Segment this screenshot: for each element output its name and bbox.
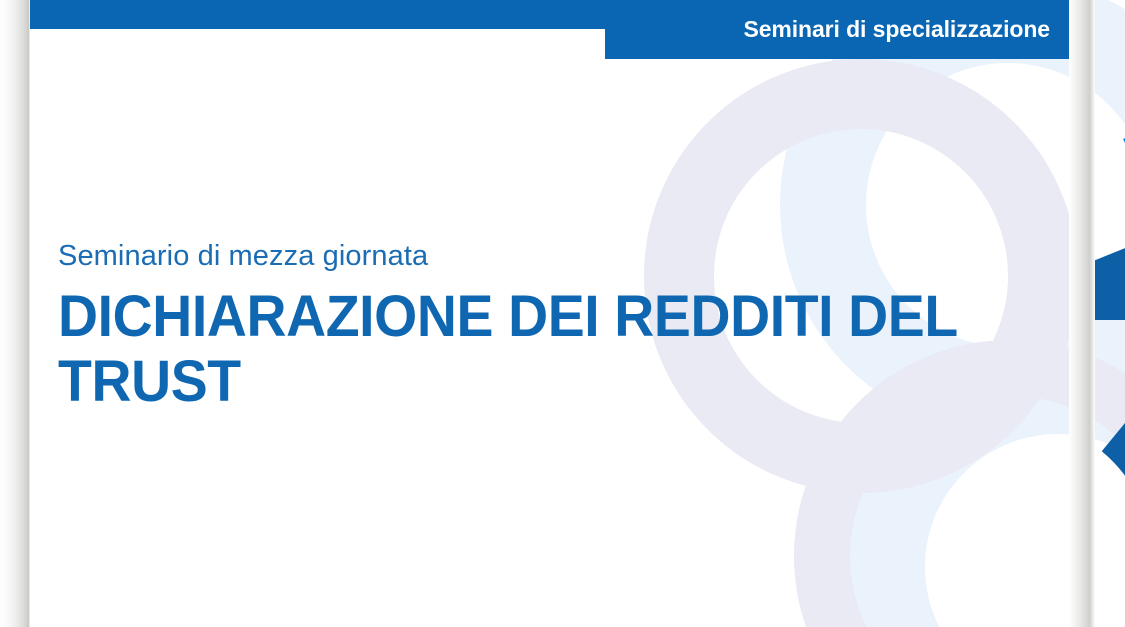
page-spine-shadow-right [1069, 0, 1095, 627]
ribbon-label: Seminari di specializzazione [605, 0, 1050, 59]
headline-block: Seminario di mezza giornata DICHIARAZION… [58, 240, 1038, 415]
page-spine-shadow-left [0, 0, 30, 627]
page-title: DICHIARAZIONE DEI REDDITI DEL TRUST [58, 285, 994, 415]
seminar-kicker: Seminario di mezza giornata [58, 240, 1038, 273]
poster-canvas: Seminari di specializzazione Seminario d… [0, 0, 1125, 627]
ribbon-bar-thin [30, 0, 607, 29]
